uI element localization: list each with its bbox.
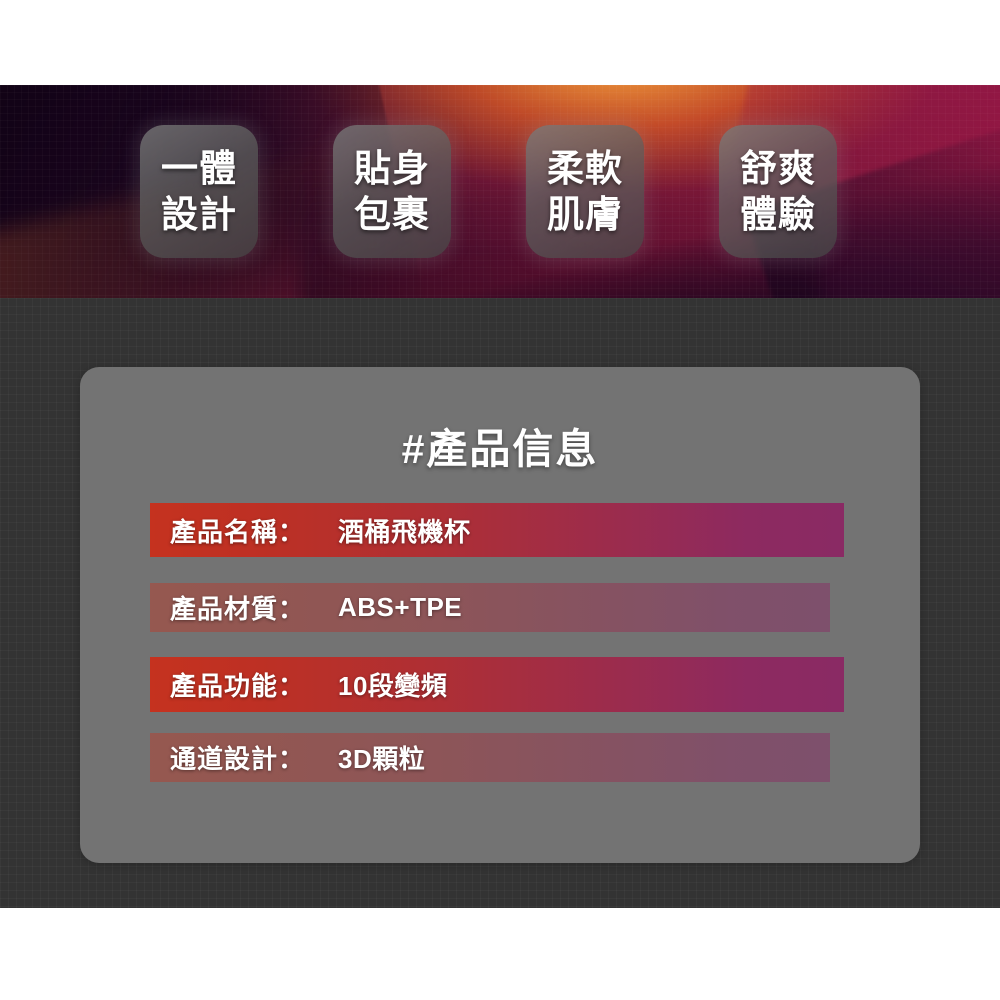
feature-banner: 一體 設計 貼身 包裹 柔軟 肌膚 舒爽 體驗: [0, 85, 1000, 298]
product-detail-page: 一體 設計 貼身 包裹 柔軟 肌膚 舒爽 體驗 #產品信息 產品名稱: [0, 0, 1000, 1000]
feature-badge-line-1: 貼身: [354, 146, 430, 191]
row-label: 產品材質：: [170, 589, 338, 626]
product-info-row-product-name: 產品名稱： 酒桶飛機杯: [150, 503, 844, 557]
feature-badge-soft-skin[interactable]: 柔軟 肌膚: [526, 125, 644, 258]
feature-badge-close-fitting-wrap[interactable]: 貼身 包裹: [333, 125, 451, 258]
feature-badge-line-1: 柔軟: [547, 146, 623, 191]
feature-badge-refreshing-experience[interactable]: 舒爽 體驗: [719, 125, 837, 258]
row-label: 產品功能：: [170, 666, 338, 703]
feature-badge-line-2: 體驗: [740, 192, 816, 237]
row-value: 酒桶飛機杯: [338, 512, 471, 549]
product-info-row-product-function: 產品功能： 10段變頻: [150, 657, 844, 712]
product-info-card: #產品信息 產品名稱： 酒桶飛機杯 產品材質： ABS+TPE 產品功能： 10…: [80, 367, 920, 863]
feature-badge-line-2: 包裹: [354, 192, 430, 237]
row-value: 10段變頻: [338, 666, 447, 703]
product-info-table: 產品名稱： 酒桶飛機杯 產品材質： ABS+TPE 產品功能： 10段變頻 通道…: [150, 503, 844, 782]
product-info-row-product-material: 產品材質： ABS+TPE: [150, 583, 830, 632]
feature-badge-list: 一體 設計 貼身 包裹 柔軟 肌膚 舒爽 體驗: [0, 85, 1000, 298]
feature-badge-line-1: 一體: [161, 146, 237, 191]
row-value: ABS+TPE: [338, 592, 462, 623]
product-info-title: #產品信息: [80, 415, 920, 475]
row-label: 通道設計：: [170, 739, 338, 776]
product-info-row-channel-design: 通道設計： 3D顆粒: [150, 733, 830, 782]
row-label: 產品名稱：: [170, 512, 338, 549]
feature-badge-line-2: 設計: [161, 192, 237, 237]
feature-badge-one-piece-design[interactable]: 一體 設計: [140, 125, 258, 258]
feature-badge-line-1: 舒爽: [740, 146, 816, 191]
row-value: 3D顆粒: [338, 739, 425, 776]
feature-badge-line-2: 肌膚: [547, 192, 623, 237]
